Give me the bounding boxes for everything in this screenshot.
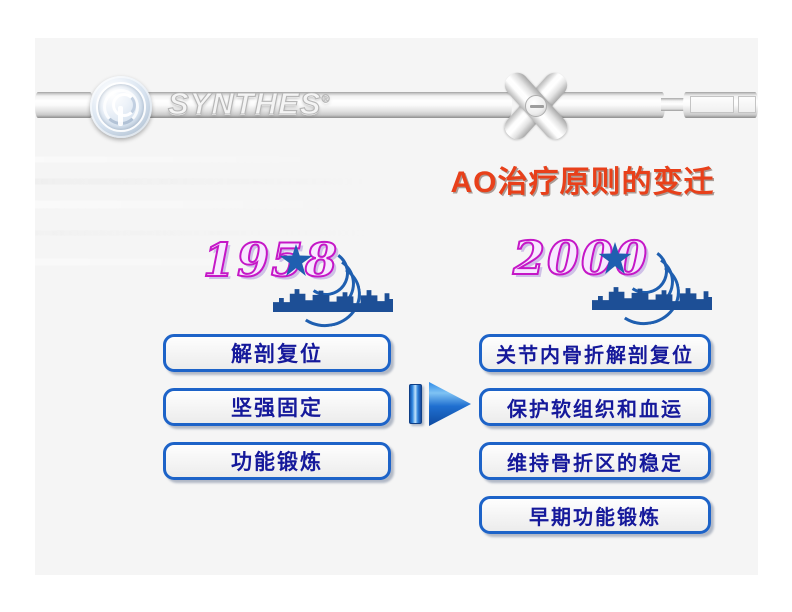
- slide-canvas: SYNTHES® AO治疗原则的变迁 1958 2000 解剖复位 坚强固定 功…: [35, 38, 758, 575]
- screw-head-icon: [525, 95, 547, 117]
- principle-box-2000-2: 保护软组织和血运: [479, 388, 711, 426]
- principle-box-1958-2: 坚强固定: [163, 388, 391, 426]
- principle-box-1958-3: 功能锻炼: [163, 442, 391, 480]
- principle-box-2000-1: 关节内骨折解剖复位: [479, 334, 711, 372]
- next-arrow-icon: [409, 382, 471, 426]
- emblem-stem: [118, 106, 123, 126]
- wordmark-text: SYNTHES: [168, 86, 321, 121]
- synthes-ring-emblem-icon: [90, 76, 152, 138]
- rail-window-large: [690, 96, 734, 113]
- emblem-inner-ring: [112, 93, 136, 117]
- principle-box-1958-1: 解剖复位: [163, 334, 391, 372]
- shooting-star-skyline-right: [592, 238, 712, 310]
- screw-slot: [530, 105, 544, 108]
- arrow-head: [429, 382, 471, 426]
- rail-window-small: [738, 96, 756, 113]
- shooting-star-skyline-left: [273, 240, 393, 312]
- principle-box-2000-3: 维持骨折区的稳定: [479, 442, 711, 480]
- synthes-wordmark: SYNTHES®: [168, 86, 331, 122]
- bone-screw-cross-icon: [500, 70, 572, 142]
- registered-trademark-icon: ®: [321, 94, 330, 106]
- arrow-bar: [409, 384, 422, 424]
- header-rail-segment-left: [35, 92, 93, 118]
- slide-title: AO治疗原则的变迁: [415, 157, 750, 201]
- principle-box-2000-4: 早期功能锻炼: [479, 496, 711, 534]
